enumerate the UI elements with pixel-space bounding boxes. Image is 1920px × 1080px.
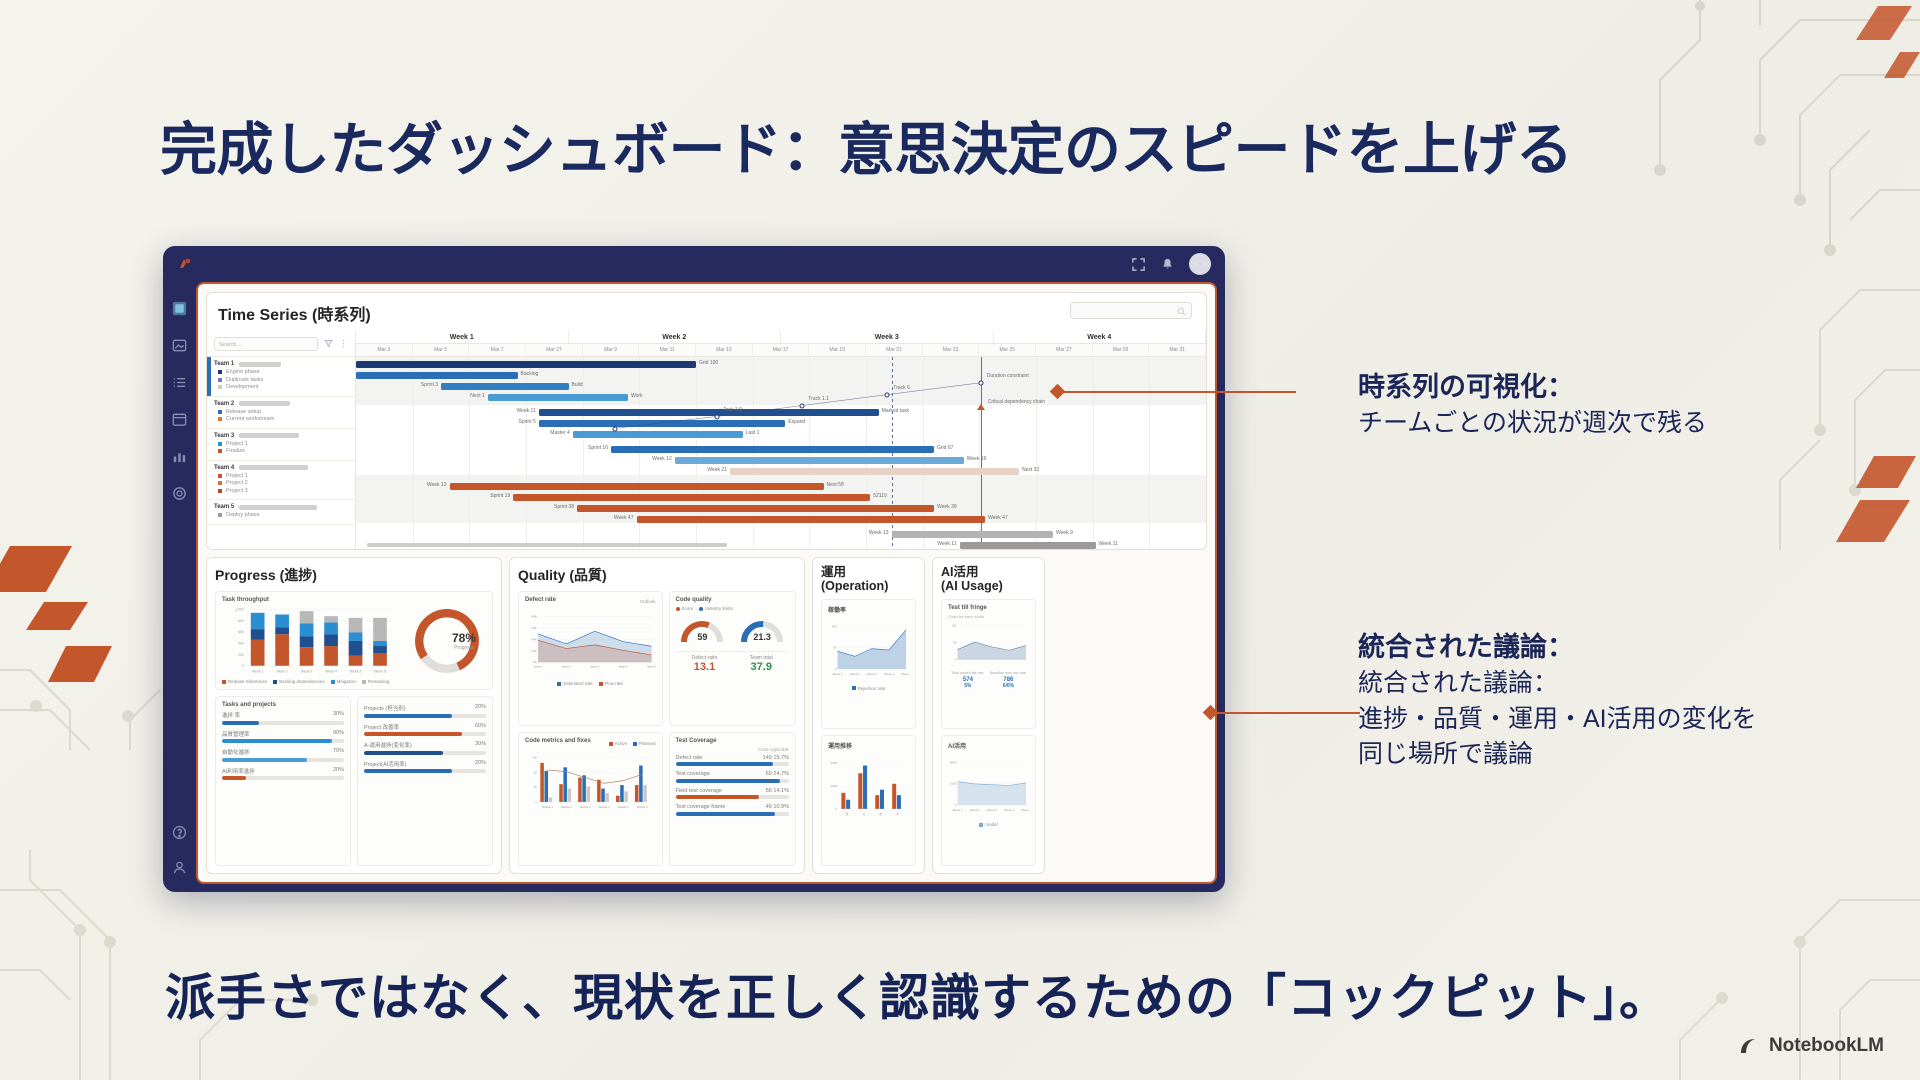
coverage-row: Test coverage frame49 10.9% [676, 804, 789, 816]
gantt-alert-label: Critical dependency chain [988, 399, 1045, 405]
progress-bar-segment [349, 618, 363, 633]
legend-label: Mitigation [337, 679, 356, 684]
legend-label: Backlog dependencies [279, 679, 324, 684]
task-progress-row: 品質管理率90% [222, 730, 344, 744]
ai-legend-item: model [979, 822, 997, 827]
gantt-group-row[interactable]: Team 5Deploy phase [207, 500, 355, 525]
operation2-x-tick: 木 [896, 811, 899, 816]
progress-track [222, 721, 344, 725]
progress-bar-segment [349, 656, 363, 666]
ai-tick-y: 0 [955, 657, 957, 661]
ai-title-en: (AI Usage) [941, 579, 1003, 593]
notebooklm-label: NotebookLM [1769, 1035, 1884, 1057]
progress-gauge-value: 78% [452, 631, 476, 645]
progress-bar-segment [373, 653, 387, 665]
progress-row-label: Field test coverage [676, 788, 722, 794]
operation-bar-chart: 010002000月火水木 [828, 753, 909, 825]
gantt-item-label: Finalize [226, 448, 245, 454]
test-coverage-title: Test Coverage [676, 738, 789, 744]
avatar[interactable] [1189, 253, 1211, 275]
code-quality-kpis: Defect ratio13.1Team total37.9 [676, 651, 789, 673]
legend-swatch [362, 680, 366, 684]
gantt-day-label: Mar 17 [753, 344, 810, 356]
operation-tick-x: Week 3 [867, 672, 877, 676]
operation-tick-x: Week 5 [901, 672, 909, 676]
dashboard-window[interactable]: Time Series (時系列) Search… Team 1Engine p [163, 246, 1225, 892]
ai-area-chart: 050100 [948, 619, 1029, 671]
gantt-group-placeholder [239, 433, 299, 438]
bottom-caption: 派手さではなく、現状を正しく認識するための「コックピット」。 [165, 958, 1670, 1030]
progress-row-value: 20% [333, 767, 344, 775]
project-progress-row: Project 改善率60% [364, 723, 486, 737]
code-y-tick: 50 [534, 770, 537, 774]
legend-swatch [599, 682, 603, 686]
ai-kpi: 7866/0% [1003, 677, 1014, 689]
legend-swatch [331, 680, 335, 684]
window-titlebar [163, 246, 1225, 282]
gantt-milestone-label: Task 1.0 [723, 407, 742, 413]
quality-y-tick: 80% [532, 615, 538, 619]
progress-fill [364, 732, 462, 736]
gantt-item-row[interactable]: Project 2 [218, 480, 355, 486]
defect-rate-area-chart: 0%20%40%60%80%Sprint 1Sprint 2Sprint 3Sp… [525, 606, 656, 678]
legend-label: Release milestones [228, 679, 267, 684]
ai-legend-label: model [985, 822, 997, 827]
gantt-week-header: Week 1Week 2Week 3Week 4 [356, 331, 1206, 344]
gantt-milestone-marker[interactable] [978, 381, 983, 386]
ai-kpi-label: 6/0% [1003, 683, 1014, 689]
progress-row-label: AI利用率進捗 [222, 767, 255, 775]
ai-card1-xticks: Total model rate useBaseline hour use ra… [948, 671, 1029, 675]
calendar-icon[interactable] [171, 411, 188, 428]
legend-label: Flow rate [605, 681, 624, 686]
ai-usage-panel: AI活用 (AI Usage) Test till fringe Chart f… [932, 557, 1045, 874]
progress-fill [676, 779, 780, 783]
image-icon[interactable] [171, 337, 188, 354]
progress-bar-segment [300, 647, 314, 666]
gantt-group-placeholder [239, 465, 308, 470]
gantt-item-label: Engine phase [226, 369, 260, 375]
legend-swatch [218, 417, 222, 421]
legend-swatch [218, 449, 222, 453]
ai-chart-card-1: Test till fringe Chart for each scale 05… [941, 599, 1036, 730]
progress-row-label: Test coverage frame [676, 804, 726, 810]
list-icon[interactable] [171, 374, 188, 391]
gantt-area[interactable]: Week 1Week 2Week 3Week 4 Mar 3Mar 5Mar 7… [356, 331, 1206, 550]
operation-chart-card-1: 稼働率 050100Week 1Week 2Week 3Week 4Week 5… [821, 599, 916, 730]
operation-tick-y: 0 [835, 667, 837, 671]
gantt-item-row[interactable]: Project 1 [218, 473, 355, 479]
ai2-tick-y: 0 [955, 803, 957, 807]
progress-chart-title: Task throughput [222, 597, 402, 603]
defect-rate-card: Defect rate Outlook 0%20%40%60%80%Sprint… [518, 591, 663, 726]
progress-chart-legend: Release milestonesBacklog dependenciesMi… [222, 679, 402, 684]
legend-swatch [218, 385, 222, 389]
operation2-bar [892, 784, 896, 809]
code-bar [597, 779, 601, 801]
progress-row-value: 90% [333, 730, 344, 738]
progress-track [676, 762, 789, 766]
progress-row-value: 60% [475, 723, 486, 731]
ai2-tick-y: 2000 [950, 761, 957, 765]
ai2-tick-y: 1000 [950, 782, 957, 786]
filter-input[interactable]: Search… [214, 337, 318, 351]
progress-bar-segment [349, 633, 363, 641]
operation-tick-x: Week 4 [884, 672, 894, 676]
gantt-day-label: Mar 9 [583, 344, 640, 356]
more-icon[interactable] [339, 339, 348, 348]
gantt-week-label: Week 3 [781, 331, 994, 343]
code-x-tick: Module 6 [637, 804, 648, 808]
progress-bar-segment [373, 618, 387, 641]
code-x-tick: Module 4 [599, 804, 610, 808]
coverage-note: Cross Applicable [676, 747, 789, 752]
progress-x-tick: Week 1 [252, 670, 264, 674]
code-bar [643, 785, 647, 802]
progress-bar-segment [324, 622, 338, 634]
gantt-item-label: Project 1 [226, 441, 248, 447]
tasks-card-title: Tasks and projects [222, 702, 344, 708]
gauge-value: 59 [677, 632, 727, 642]
operation-area-chart: 050100Week 1Week 2Week 3Week 4Week 5 [828, 617, 909, 683]
page-title: 完成したダッシュボード：意思決定のスピードを上げる [160, 104, 1573, 186]
progress-row-label: Projects (担当別) [364, 704, 406, 712]
project-progress-row: Projects (担当別)20% [364, 704, 486, 718]
progress-panel: Progress (進捗) Task throughput 0200400600… [206, 557, 502, 874]
gantt-day-label: Mar 5 [413, 344, 470, 356]
gantt-group-label: Team 3 [214, 433, 234, 439]
legend-swatch [218, 442, 222, 446]
gantt-group-row[interactable]: Team 4Project 1Project 2Project 3 [207, 461, 355, 501]
ai2-tick-x: Week 4 [1004, 808, 1014, 812]
progress-y-tick: 800 [238, 619, 244, 623]
progress-y-tick: 200 [238, 653, 244, 657]
code-quality-gauges: 5921.3 [676, 615, 789, 647]
progress-x-tick: Week 3 [301, 670, 313, 674]
gantt-item-label: Project 1 [226, 473, 248, 479]
progress-bar-segment [373, 641, 387, 646]
progress-y-tick: 400 [238, 642, 244, 646]
progress-row-value: 149 15.7% [763, 755, 789, 761]
gantt-day-label: Mar 7 [469, 344, 526, 356]
progress-bar-segment [251, 613, 265, 629]
progress-track [364, 751, 486, 755]
progress-x-tick: Week 2 [276, 670, 288, 674]
legend-label: Estimated rate [563, 681, 592, 686]
operation2-bar [880, 790, 884, 809]
legend-label: Remaining [368, 679, 390, 684]
code-y-tick: 100 [532, 755, 537, 759]
gantt-group-placeholder [239, 505, 317, 510]
gantt-group-label: Team 1 [214, 361, 234, 367]
gantt-day-label: Mar 3 [356, 344, 413, 356]
gantt-item-row[interactable]: Duplicate tasks [218, 377, 355, 383]
gantt-item-row[interactable]: Engine phase [218, 369, 355, 375]
code-bar [639, 765, 643, 801]
progress-gauge-label: Progress [452, 645, 476, 651]
leader-line-2 [1215, 712, 1360, 714]
legend-item: Flow rate [599, 681, 624, 686]
window-content: Time Series (時系列) Search… Team 1Engine p [196, 282, 1217, 884]
progress-fill [676, 762, 774, 766]
progress-y-tick: 0 [242, 664, 244, 668]
progress-bar-segment [300, 624, 314, 637]
gantt-item-label: Release setup [226, 409, 261, 415]
progress-bar-segment [275, 614, 289, 627]
progress-bar-segment [275, 627, 289, 634]
gantt-day-label: Mar 23 [923, 344, 980, 356]
test-coverage-card: Test Coverage Cross Applicable Defect ra… [669, 732, 796, 867]
operation-panel: 運用 (Operation) 稼働率 050100Week 1Week 2Wee… [812, 557, 925, 874]
code-bar [586, 786, 590, 802]
operation-tick-x: Week 1 [833, 672, 843, 676]
task-progress-row: 自動化進捗70% [222, 748, 344, 762]
gantt-alert-marker[interactable] [977, 404, 985, 410]
quality-y-tick: 20% [532, 649, 538, 653]
operation2-y-tick: 1000 [831, 784, 838, 788]
quality-x-tick: Sprint 4 [619, 664, 629, 668]
operation-card2-title: 運用推移 [828, 741, 909, 750]
gantt-day-label: Mar 29 [1093, 344, 1150, 356]
progress-bar-segment [349, 641, 363, 656]
legend-swatch [218, 489, 222, 493]
quality-kpi: Team total37.9 [750, 655, 773, 673]
progress-bar-segment [251, 640, 265, 666]
tasks-card: Tasks and projects 進捗 率30%品質管理率90%自動化進捗7… [215, 696, 351, 866]
progress-row-label: Test coverage [676, 771, 710, 777]
code-x-tick: Module 2 [561, 804, 572, 808]
legend-swatch [218, 370, 222, 374]
progress-track [364, 732, 486, 736]
quality-y-tick: 40% [532, 637, 538, 641]
gantt-item-label: Duplicate tasks [226, 377, 263, 383]
time-series-search[interactable] [1070, 302, 1192, 319]
gantt-group-row[interactable]: Team 3Project 1Finalize [207, 429, 355, 461]
ai-kpi: 5745% [963, 677, 973, 689]
gantt-milestone-marker[interactable] [715, 415, 720, 420]
operation-tick-y: 50 [833, 645, 837, 649]
expand-icon[interactable] [1131, 257, 1146, 272]
progress-row-label: Project 改善率 [364, 723, 399, 731]
time-series-toolbar: Search… [207, 331, 355, 357]
code-bar [601, 788, 605, 801]
progress-bar-segment [324, 634, 338, 646]
gantt-item-row[interactable]: Development [218, 384, 355, 390]
code-quality-title: Code quality [676, 597, 789, 603]
ai2-tick-x: Week 2 [970, 808, 980, 812]
operation-legend-label: Rejection rate [858, 686, 886, 691]
dashboard-icon[interactable] [171, 300, 188, 317]
progress-bar-segment [324, 616, 338, 622]
code-bar [540, 762, 544, 801]
operation2-x-tick: 月 [845, 812, 848, 816]
code-quality-gauge: 21.3 [737, 615, 787, 647]
settings-icon[interactable] [171, 485, 188, 502]
code-metrics-legend: ActivePlanned [609, 741, 656, 746]
operation-title-jp: 運用 [821, 565, 846, 579]
legend-swatch [222, 680, 226, 684]
gantt-milestone-marker[interactable] [885, 393, 890, 398]
code-x-tick: Module 1 [542, 804, 553, 808]
quality-x-tick: Sprint 2 [562, 664, 572, 668]
task-progress-row: 進捗 率30% [222, 711, 344, 725]
notebooklm-logo-icon [1737, 1034, 1761, 1058]
progress-fill [676, 795, 760, 799]
quality-x-tick: Sprint 1 [534, 664, 544, 668]
notebooklm-badge: NotebookLM [1737, 1034, 1884, 1058]
coverage-row: Defect rate149 15.7% [676, 755, 789, 767]
gantt-item-row[interactable]: Project 1 [218, 441, 355, 447]
annotation-2: 統合された議論： 統合された議論： 進捗・品質・運用・AI活用の変化を 同じ場所… [1358, 629, 1757, 773]
leader-line-1 [1056, 391, 1296, 393]
code-bar [559, 784, 563, 802]
progress-fill [222, 776, 246, 780]
project-progress-row: A-運用進捗(変化率)30% [364, 741, 486, 755]
gantt-item-label: Project 2 [226, 480, 248, 486]
code-x-tick: Module 5 [618, 804, 629, 808]
legend-item: Planned [633, 741, 656, 746]
time-series-card: Time Series (時系列) Search… Team 1Engine p [206, 292, 1207, 550]
progress-bar-segment [300, 636, 314, 647]
code-quality-gauge: 59 [677, 615, 727, 647]
gantt-item-label: Current workstream [226, 416, 274, 422]
code-trendline [548, 769, 643, 782]
ai-kpi-label: 5% [963, 683, 973, 689]
gantt-item-label: Development [226, 384, 258, 390]
operation-tick-y: 100 [832, 624, 837, 628]
gantt-milestone-line [356, 357, 1206, 550]
progress-bar-segment [324, 646, 338, 666]
code-bar [605, 793, 609, 802]
quality-y-tick: 60% [532, 626, 538, 630]
legend-item: Industry limits [699, 606, 733, 611]
gantt-group-row[interactable]: Team 1Engine phaseDuplicate tasksDevelop… [207, 357, 355, 397]
task-progress-row: AI利用率進捗20% [222, 767, 344, 781]
gantt-item-row[interactable]: Deploy phase [218, 512, 355, 518]
progress-fill [676, 812, 776, 816]
ai-card1-title: Test till fringe [948, 605, 1029, 611]
progress-title: Progress (進捗) [215, 565, 493, 585]
code-bar [620, 785, 624, 802]
operation-card1-title: 稼働率 [828, 605, 909, 614]
ai-tick-y: 50 [953, 640, 957, 644]
legend-item: Release milestones [222, 679, 267, 684]
legend-swatch [218, 378, 222, 382]
progress-bar-segment [373, 646, 387, 653]
legend-item: Score [676, 606, 694, 611]
window-left-rail [163, 282, 196, 892]
code-metrics-bar-chart: 02550100Module 1Module 2Module 3Module 4… [525, 747, 656, 819]
gantt-item-row[interactable]: Current workstream [218, 416, 355, 422]
gantt-body[interactable]: Week 1Grid 100Week 2BacklogSprint 3Build… [356, 357, 1206, 550]
search-icon [1177, 307, 1186, 316]
gantt-day-label: Mar 11 [639, 344, 696, 356]
gantt-day-label: Mar 21 [866, 344, 923, 356]
ai-x-tick: Total model rate use [951, 671, 983, 675]
legend-item: Estimated rate [557, 681, 592, 686]
code-bar [549, 797, 553, 801]
code-bar [635, 785, 639, 802]
legend-swatch [633, 742, 637, 746]
gantt-item-row[interactable]: Project 3 [218, 488, 355, 494]
defect-card-title: Defect rate [525, 597, 556, 603]
progress-track [364, 714, 486, 718]
progress-y-tick: 1,000 [235, 608, 244, 612]
quality-title: Quality (品質) [518, 565, 796, 585]
quality-x-tick: Sprint 3 [590, 664, 600, 668]
progress-row-label: Project(AI活用率) [364, 760, 406, 768]
legend-swatch [676, 607, 680, 611]
gantt-group-row[interactable]: Team 2Release setupCurrent workstream [207, 397, 355, 429]
progress-track [222, 776, 344, 780]
legend-swatch [557, 682, 561, 686]
ai-tick-y: 100 [952, 623, 957, 627]
legend-swatch [218, 481, 222, 485]
legend-swatch [218, 410, 222, 414]
chart-icon[interactable] [171, 448, 188, 465]
legend-label: Industry limits [705, 606, 733, 611]
operation2-y-tick: 0 [836, 807, 838, 811]
horizontal-scrollbar[interactable] [367, 543, 727, 547]
operation2-x-tick: 火 [862, 812, 865, 816]
defect-chart-legend: Estimated rateFlow rate [525, 681, 656, 686]
user-icon[interactable] [171, 859, 188, 876]
gantt-day-label: Mar 27 [1036, 344, 1093, 356]
legend-label: Active [615, 741, 627, 746]
progress-row-label: 品質管理率 [222, 730, 250, 738]
legend-label: Planned [639, 741, 656, 746]
code-x-tick: Module 3 [580, 804, 591, 808]
operation2-bar [863, 766, 867, 809]
progress-fill [364, 714, 452, 718]
quality-y-tick: 0% [533, 660, 537, 664]
quality-x-tick: Sprint 5 [647, 664, 655, 668]
progress-stacked-bar-chart: 02004006008001,000Week 1Week 2Week 3Week… [222, 606, 402, 676]
filter-icon[interactable] [324, 339, 333, 348]
gantt-milestone-label: Duration constraint [987, 373, 1029, 379]
gantt-item-row[interactable]: Release setup [218, 409, 355, 415]
progress-bar-segment [300, 611, 314, 623]
gantt-day-header: Mar 3Mar 5Mar 7Mar 27Mar 9Mar 11Mar 13Ma… [356, 344, 1206, 357]
operation2-y-tick: 2000 [831, 761, 838, 765]
help-icon[interactable] [171, 824, 188, 841]
gantt-group-placeholder [239, 362, 281, 367]
gantt-milestone-marker[interactable] [613, 427, 618, 432]
code-quality-legend: ScoreIndustry limits [676, 606, 789, 611]
gantt-item-row[interactable]: Finalize [218, 448, 355, 454]
progress-row-value: 70% [333, 748, 344, 756]
coverage-row: Field test coverage56 14.1% [676, 788, 789, 800]
progress-row-value: 69 24.7% [766, 771, 789, 777]
operation-chart-card-2: 運用推移 010002000月火水木 [821, 735, 916, 866]
bell-icon[interactable] [1160, 257, 1175, 272]
legend-swatch [699, 607, 703, 611]
gantt-item-label: Deploy phase [226, 512, 260, 518]
time-series-title: Time Series (時系列) [207, 293, 1206, 331]
legend-swatch [609, 742, 613, 746]
gantt-group-label: Team 2 [214, 401, 234, 407]
progress-chart-card: Task throughput 02004006008001,000Week 1… [215, 591, 493, 690]
gantt-milestone-marker[interactable] [800, 404, 805, 409]
progress-row-value: 20% [475, 704, 486, 712]
circuit-decor-left-mid [0, 520, 180, 750]
code-bar [616, 795, 620, 801]
code-bar [578, 777, 582, 801]
code-bar [624, 791, 628, 802]
legend-item: Backlog dependencies [273, 679, 324, 684]
code-metrics-card: Code metrics and fixes ActivePlanned 025… [518, 732, 663, 867]
legend-swatch [273, 680, 277, 684]
